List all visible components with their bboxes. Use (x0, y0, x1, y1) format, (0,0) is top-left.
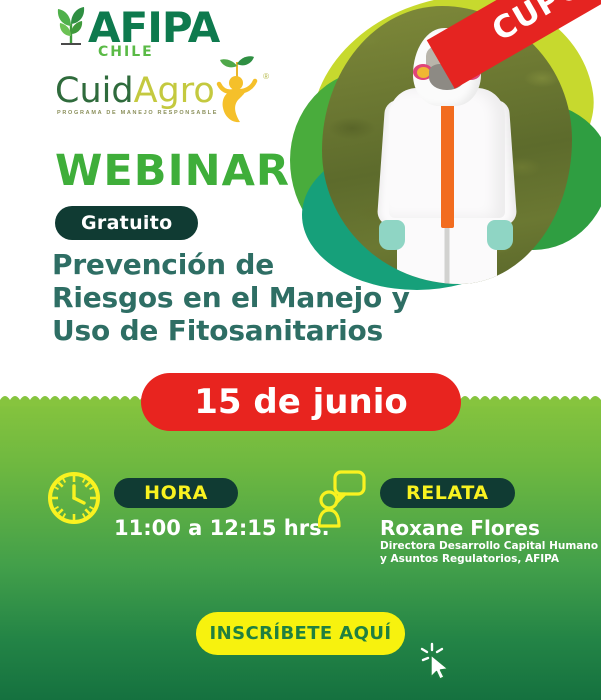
registered-mark: ® (263, 72, 269, 81)
register-button-label: INSCRÍBETE AQUÍ (210, 623, 392, 644)
speaker-person-icon (318, 470, 366, 528)
hora-label-pill: HORA (114, 478, 238, 508)
cuidagro-wordmark: CuidAgro (55, 74, 215, 109)
afipa-wordmark: AFIPA (88, 8, 219, 48)
speaker-role-line-2: y Asuntos Regulatorios, AFIPA (380, 553, 598, 566)
webinar-eyebrow: WEBINAR (55, 146, 290, 196)
cuidagro-word-part1: Cuid (55, 71, 134, 111)
speaker-role: Directora Desarrollo Capital Humano y As… (380, 540, 598, 566)
glove-left (379, 220, 405, 250)
suit-zipper (441, 88, 454, 228)
plant-leaf-icon (52, 2, 90, 48)
speaker-name: Roxane Flores (380, 516, 540, 540)
hora-value: 11:00 a 12:15 hrs. (114, 516, 330, 540)
webinar-flyer: AFIPA CHILE CuidAgro PROGRAMA DE MANEJO … (0, 0, 601, 700)
info-row: HORA 11:00 a 12:15 hrs. RELATA Roxane Fl… (0, 470, 601, 580)
person-with-plant-icon (207, 50, 263, 124)
speaker-role-line-1: Directora Desarrollo Capital Humano (380, 540, 598, 553)
glove-right (487, 220, 513, 250)
register-button[interactable]: INSCRÍBETE AQUÍ (196, 612, 405, 655)
click-cursor-icon (418, 638, 458, 680)
hora-label: HORA (144, 482, 208, 504)
clock-icon (48, 472, 100, 524)
suit-leg-gap (445, 224, 450, 284)
gratuito-badge: Gratuito (55, 206, 198, 240)
cuidagro-tagline: PROGRAMA DE MANEJO RESPONSABLE (57, 110, 218, 116)
afipa-logo: AFIPA CHILE (52, 2, 219, 48)
cuidagro-logo: CuidAgro PROGRAMA DE MANEJO RESPONSABLE … (55, 52, 245, 124)
title-line-3: Uso de Fitosanitarios (52, 314, 410, 347)
date-label: 15 de junio (194, 382, 407, 422)
relata-label-pill: RELATA (380, 478, 515, 508)
relata-label: RELATA (406, 482, 489, 504)
date-badge: 15 de junio (141, 373, 461, 431)
cuidagro-word-part2: Agro (134, 71, 215, 111)
top-section: AFIPA CHILE CuidAgro PROGRAMA DE MANEJO … (0, 0, 601, 400)
